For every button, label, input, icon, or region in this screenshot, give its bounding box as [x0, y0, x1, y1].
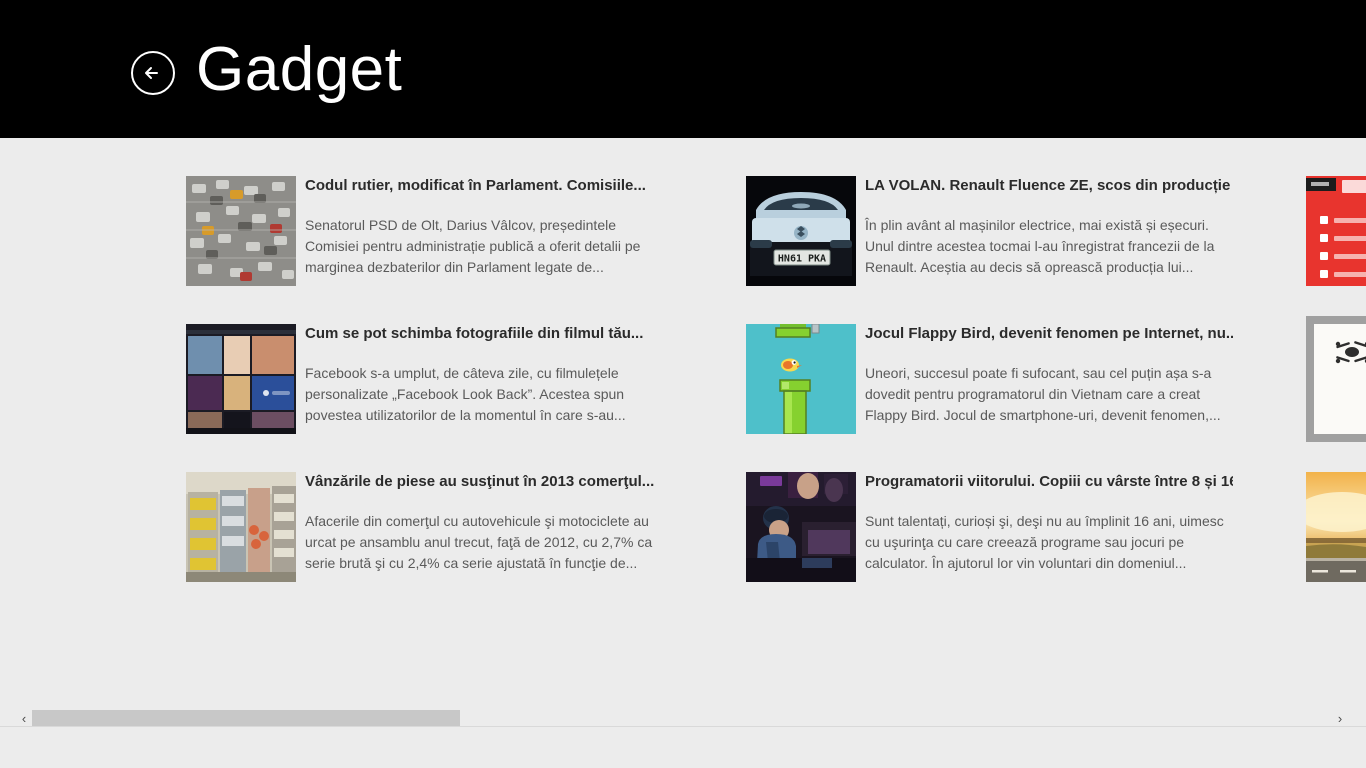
article-thumbnail [1306, 472, 1366, 582]
app-header: Gadget [0, 0, 1366, 138]
article-item[interactable] [1306, 176, 1366, 286]
article-title: LA VOLAN. Renault Fluence ZE, scos din p… [865, 176, 1233, 196]
article-title: Jocul Flappy Bird, devenit fenomen pe In… [865, 324, 1233, 344]
scrollbar-thumb[interactable] [32, 710, 460, 726]
article-body: Sunt talentați, curioși şi, deşi nu au î… [865, 511, 1233, 574]
articles-column-2: HN61 PKA LA VOLAN. Renault Fluence ZE, s… [746, 176, 1246, 620]
page-title: Gadget [196, 32, 402, 108]
children-at-computers-event-icon [746, 472, 856, 582]
article-title: Codul rutier, modificat în Parlament. Co… [305, 176, 673, 196]
article-item[interactable] [1306, 472, 1366, 582]
red-promo-list-banner-icon [1306, 176, 1366, 286]
article-item[interactable]: Cum se pot schimba fotografiile din film… [186, 324, 686, 434]
articles-column-1: Codul rutier, modificat în Parlament. Co… [186, 176, 686, 620]
article-title: Vânzările de piese au susţinut în 2013 c… [305, 472, 673, 492]
article-thumbnail [1306, 176, 1366, 286]
article-title: Cum se pot schimba fotografiile din film… [305, 324, 673, 344]
article-text: Codul rutier, modificat în Parlament. Co… [305, 176, 673, 278]
renault-car-front-plate-icon: HN61 PKA [746, 176, 856, 286]
article-thumbnail [746, 472, 856, 582]
scrollbar-track-remainder[interactable] [460, 710, 1304, 726]
back-arrow-icon [133, 53, 173, 93]
article-item[interactable]: Codul rutier, modificat în Parlament. Co… [186, 176, 686, 286]
article-body: Facebook s-a umplut, de câteva zile, cu … [305, 363, 673, 426]
scroll-right-arrow-icon[interactable]: › [1324, 710, 1356, 727]
articles-column-3 [1306, 176, 1366, 620]
content-area: Codul rutier, modificat în Parlament. Co… [0, 138, 1366, 700]
article-thumbnail [746, 324, 856, 434]
article-body: În plin avânt al mașinilor electrice, ma… [865, 215, 1233, 278]
articles-grid: Codul rutier, modificat în Parlament. Co… [186, 176, 1366, 646]
article-item[interactable]: HN61 PKA LA VOLAN. Renault Fluence ZE, s… [746, 176, 1246, 286]
back-button[interactable] [131, 51, 175, 95]
article-body: Senatorul PSD de Olt, Darius Vâlcov, pre… [305, 215, 673, 278]
article-title: Programatorii viitorului. Copiii cu vârs… [865, 472, 1233, 492]
article-item[interactable]: Vânzările de piese au susţinut în 2013 c… [186, 472, 686, 582]
svg-text:HN61 PKA: HN61 PKA [778, 254, 826, 265]
traffic-jam-aerial-photo-icon [186, 176, 296, 286]
article-thumbnail [1314, 324, 1366, 434]
article-item-selected[interactable] [1306, 316, 1366, 442]
article-text: Cum se pot schimba fotografiile din film… [305, 324, 673, 426]
article-text: LA VOLAN. Renault Fluence ZE, scos din p… [865, 176, 1233, 278]
article-text: Vânzările de piese au susţinut în 2013 c… [305, 472, 673, 574]
horizontal-scrollbar[interactable]: ‹ › [0, 700, 1366, 768]
article-thumbnail: HN61 PKA [746, 176, 856, 286]
article-item[interactable]: Programatorii viitorului. Copiii cu vârs… [746, 472, 1246, 582]
article-body: Uneori, succesul poate fi sufocant, sau … [865, 363, 1233, 426]
article-thumbnail [186, 472, 296, 582]
scroll-left-arrow-icon[interactable]: ‹ [8, 710, 40, 727]
article-body: Afacerile din comerţul cu autovehicule ş… [305, 511, 673, 574]
flappy-bird-game-screenshot-icon [746, 324, 856, 434]
article-text: Programatorii viitorului. Copiii cu vârs… [865, 472, 1233, 574]
auto-parts-store-shelves-icon [186, 472, 296, 582]
article-thumbnail [186, 176, 296, 286]
photo-collage-grid-icon [186, 324, 296, 434]
sunset-highway-road-icon [1306, 472, 1366, 582]
article-thumbnail [186, 324, 296, 434]
app-root: Gadget [0, 0, 1366, 768]
drone-white-background-icon [1314, 324, 1366, 434]
article-text: Jocul Flappy Bird, devenit fenomen pe In… [865, 324, 1233, 426]
article-item[interactable]: Jocul Flappy Bird, devenit fenomen pe In… [746, 324, 1246, 434]
